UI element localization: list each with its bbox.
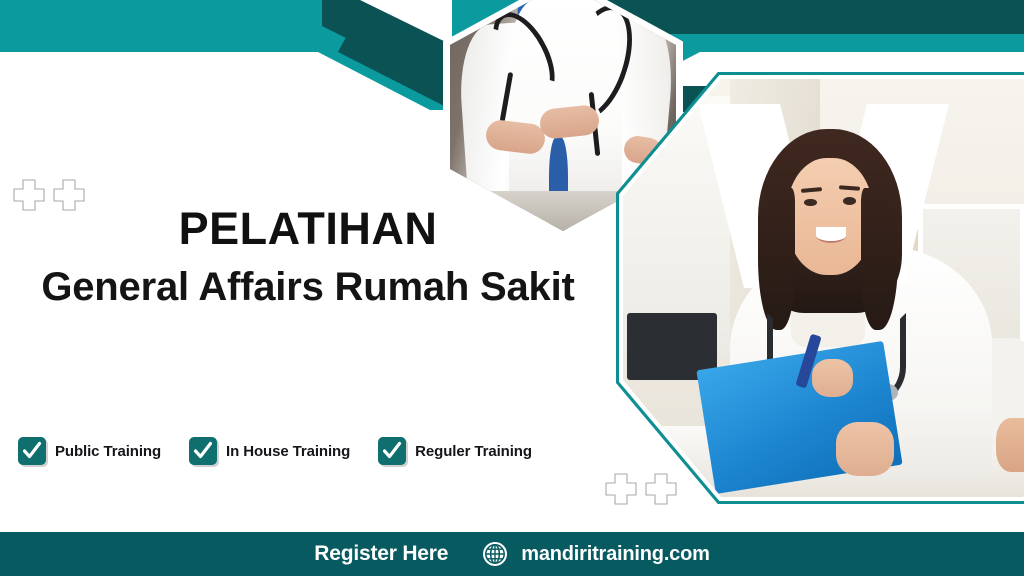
training-option-label: Public Training (55, 443, 161, 460)
clinic-background (623, 79, 1024, 497)
x-shape-icon (644, 472, 678, 506)
poster-canvas: PELATIHAN General Affairs Rumah Sakit Pu… (0, 0, 1024, 576)
x-shape-icon (604, 472, 638, 506)
register-here-label[interactable]: Register Here (314, 542, 448, 566)
panel-photo-clip (623, 79, 1024, 497)
training-option-label: In House Training (226, 443, 350, 460)
training-options-row: Public Training In House Training Regule… (18, 437, 532, 465)
checkmark-icon (22, 441, 42, 461)
patient-hand (996, 418, 1024, 472)
doctor-hand-lower (836, 422, 893, 476)
decorative-x-cluster-bottom (604, 472, 678, 506)
training-option-label: Reguler Training (415, 443, 532, 460)
doctor-eye-right (843, 197, 856, 205)
website-link[interactable]: mandiritraining.com (482, 541, 709, 567)
globe-icon (482, 541, 508, 567)
doctor-hair-strand-left (758, 188, 795, 330)
checkbox-in-house-training[interactable] (189, 437, 217, 465)
checkmark-icon (382, 441, 402, 461)
doctor-hand-upper (812, 359, 853, 397)
doctor-smile (816, 227, 847, 242)
checkbox-reguler-training[interactable] (378, 437, 406, 465)
checkmark-icon (193, 441, 213, 461)
training-option-in-house[interactable]: In House Training (189, 437, 350, 465)
checkbox-public-training[interactable] (18, 437, 46, 465)
footer-bar: Register Here mandiritraining.com (0, 532, 1024, 576)
website-url: mandiritraining.com (521, 543, 709, 566)
page-subtitle: General Affairs Rumah Sakit (0, 265, 616, 309)
page-title: PELATIHAN (0, 206, 616, 251)
doctor-photo-panel (616, 72, 1024, 504)
training-option-reguler[interactable]: Reguler Training (378, 437, 532, 465)
doctor-hair-strand-right (861, 188, 898, 330)
training-option-public[interactable]: Public Training (18, 437, 161, 465)
